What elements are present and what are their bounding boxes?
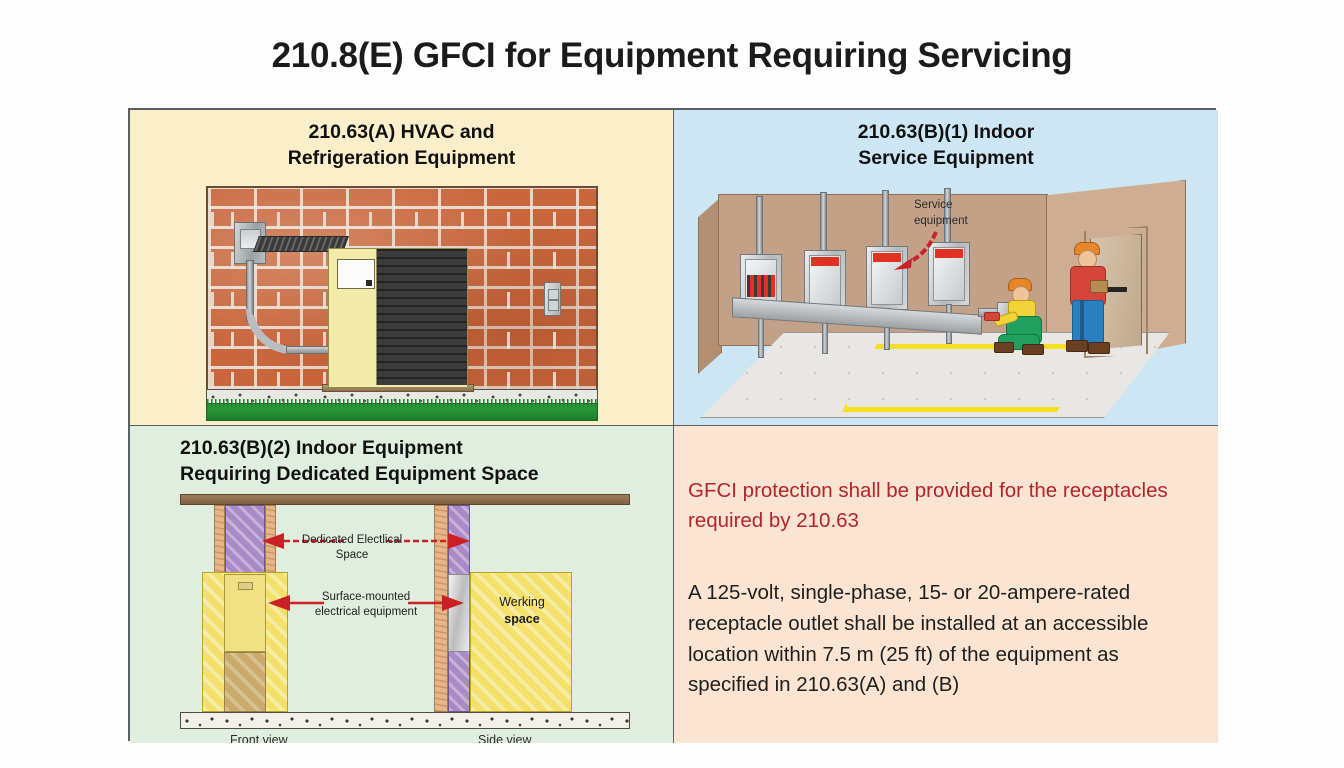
outdoor-receptacle-icon [544, 282, 561, 316]
dedicated-space-illustration: Dedicated Electlical Space Surface-mount… [180, 494, 630, 734]
arrow-right-icon [448, 533, 470, 549]
panel-indoor-service-equipment: 210.63(B)(1) Indoor Service Equipment [674, 110, 1218, 426]
working-space-label-line2: space [504, 612, 539, 626]
equipment-knob-icon [238, 582, 253, 590]
panel-hvac-heading-line2: Refrigeration Equipment [142, 146, 661, 172]
concrete-slab-icon [180, 712, 630, 729]
riser-conduit-icon [820, 192, 827, 254]
panel-hvac-heading: 210.63(A) HVAC and Refrigeration Equipme… [130, 120, 673, 171]
panel-service-heading-line2: Service Equipment [686, 146, 1206, 172]
diagram-frame: 210.63(A) HVAC and Refrigeration Equipme… [128, 108, 1216, 741]
working-space-block-side-icon [470, 572, 572, 712]
gfci-red-statement: GFCI protection shall be provided for th… [688, 476, 1200, 537]
side-view-label: Side view [478, 733, 532, 743]
arrow-left-icon [262, 533, 284, 549]
page-title: 210.8(E) GFCI for Equipment Requiring Se… [0, 36, 1344, 76]
ceiling-beam-icon [180, 494, 630, 505]
worker-standing-icon [1060, 242, 1116, 362]
service-equipment-callout: Service equipment [914, 198, 968, 229]
panel-drop-conduit-icon [758, 316, 764, 358]
panel-gfci-statements: GFCI protection shall be provided for th… [674, 426, 1218, 743]
surface-mounted-label-line2: electrical equipment [288, 605, 444, 620]
working-space-label: Werking space [480, 594, 564, 628]
callout-line1: Service [914, 198, 968, 214]
working-space-label-line1: Werking [480, 594, 564, 611]
panel-dedicated-heading-line2: Requiring Dedicated Equipment Space [180, 462, 661, 488]
surface-mounted-label-line1: Surface-mounted [288, 590, 444, 605]
riser-conduit-icon [882, 190, 889, 252]
service-room-illustration: Service equipment [692, 182, 1200, 422]
dedicated-space-label: Dedicated Electlical Space [288, 533, 416, 563]
red-arrow-icon [892, 230, 938, 272]
worker-kneeling-icon [992, 278, 1058, 362]
panel-hvac-heading-line1: 210.63(A) HVAC and [142, 120, 661, 146]
arrow-left-icon [268, 595, 290, 611]
gfci-black-statement: A 125-volt, single-phase, 15- or 20-ampe… [688, 578, 1204, 701]
riser-conduit-icon [756, 196, 763, 256]
hvac-condenser-icon [328, 248, 468, 388]
panel-dedicated-heading-line1: 210.63(B)(2) Indoor Equipment [180, 436, 661, 462]
panel-dedicated-heading: 210.63(B)(2) Indoor Equipment Requiring … [130, 436, 673, 487]
surface-mounted-label: Surface-mounted electrical equipment [288, 590, 444, 620]
panel-hvac-refrigeration: 210.63(A) HVAC and Refrigeration Equipme… [130, 110, 674, 426]
arrow-right-icon [442, 595, 464, 611]
panel-service-heading: 210.63(B)(1) Indoor Service Equipment [674, 120, 1218, 171]
condenser-coil-icon [376, 249, 467, 385]
condenser-access-panel-icon [337, 259, 375, 289]
equipment-side-profile-icon [448, 574, 470, 652]
callout-line2: equipment [914, 214, 968, 230]
front-view-label: Front view [230, 733, 288, 743]
equipment-lower-section-icon [224, 652, 266, 712]
hvac-illustration [206, 186, 598, 421]
panel-service-heading-line1: 210.63(B)(1) Indoor [686, 120, 1206, 146]
panel-dedicated-equipment-space: 210.63(B)(2) Indoor Equipment Requiring … [130, 426, 674, 743]
grass-icon [206, 403, 598, 421]
